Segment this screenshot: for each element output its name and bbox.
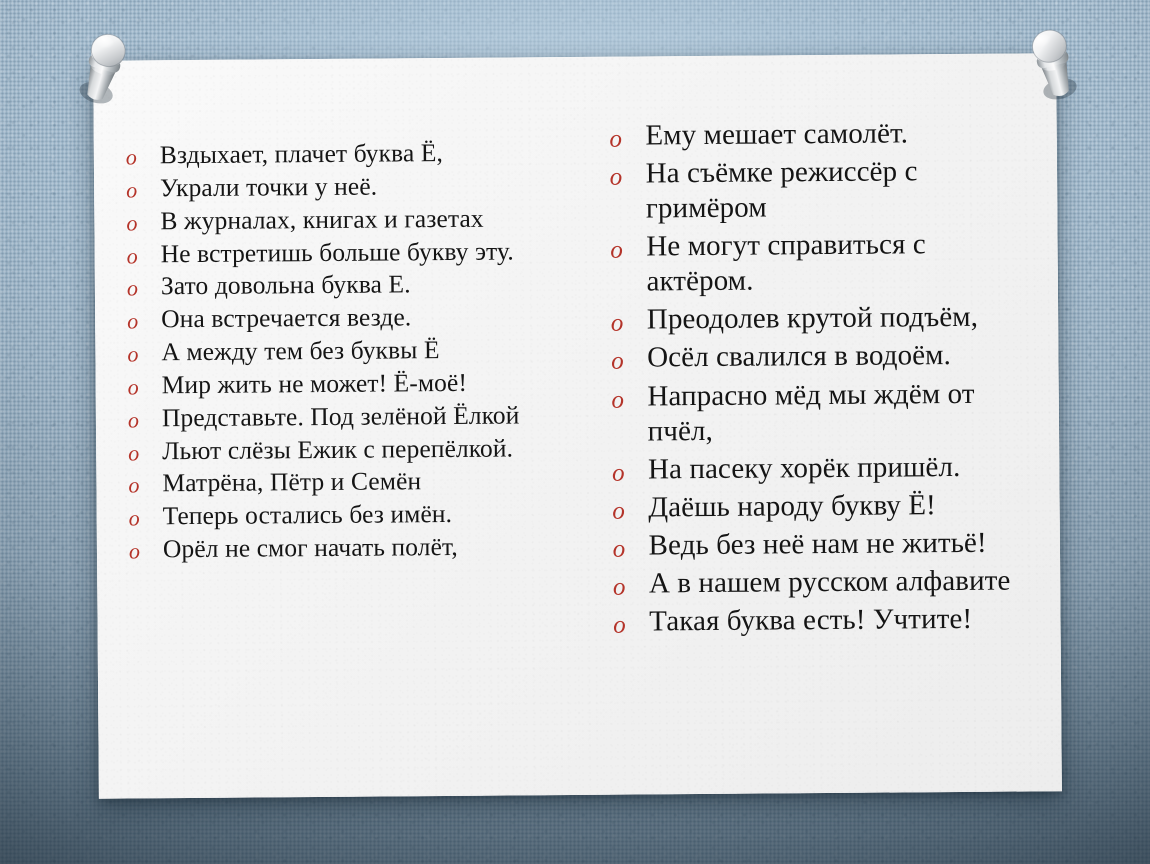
- bullet-icon: o: [613, 604, 649, 637]
- list-item: o Даёшь народу букву Ё!: [612, 487, 1042, 525]
- list-item-text: Представьте. Под зелёной Ёлкой: [162, 400, 594, 434]
- list-item-text: Не могут справиться с актёром.: [646, 227, 1040, 300]
- list-item-text: Осёл свалился в водоём.: [647, 338, 1041, 376]
- bullet-icon: o: [128, 403, 162, 431]
- list-item: o Представьте. Под зелёной Ёлкой: [128, 400, 594, 435]
- list-item: o В журналах, книгах и газетах: [126, 203, 592, 238]
- list-item-text: Льют слёзы Ежик с перепёлкой.: [162, 432, 594, 466]
- bullet-icon: o: [612, 452, 648, 485]
- list-item: o А между тем без буквы Ё: [127, 334, 593, 369]
- list-item: o Льют слёзы Ежик с перепёлкой.: [128, 432, 594, 467]
- list-item-text: Преодолев крутой подъём,: [647, 300, 1041, 338]
- bullet-icon: o: [128, 469, 162, 497]
- list-item-text: Зато довольна буква Е.: [161, 268, 593, 302]
- bullet-icon: o: [612, 528, 648, 561]
- list-item-text: Украли точки у неё.: [160, 170, 592, 204]
- list-item-text: Орёл не смог начать полёт,: [163, 531, 595, 565]
- list-item: o Вздыхает, плачет буква Ё,: [126, 137, 592, 172]
- list-item-text: Даёшь народу букву Ё!: [648, 487, 1042, 525]
- list-item: o Ему мешает самолёт.: [609, 115, 1039, 153]
- list-item: o Не встретишь больше букву эту.: [127, 235, 593, 270]
- list-item-text: В журналах, книгах и газетах: [160, 203, 592, 237]
- bullet-icon: o: [128, 370, 162, 398]
- list-item: o Она встречается везде.: [127, 301, 593, 336]
- bullet-icon: o: [127, 304, 161, 332]
- list-item: o Зато довольна буква Е.: [127, 268, 593, 303]
- list-item: o Орёл не смог начать полёт,: [129, 531, 595, 566]
- list-item-text: Такая буква есть! Учтите!: [649, 601, 1043, 639]
- list-item-text: Не встретишь больше букву эту.: [161, 235, 593, 269]
- list-item-text: Вздыхает, плачет буква Ё,: [160, 137, 592, 171]
- bullet-icon: o: [127, 337, 161, 365]
- list-item: o Осёл свалился в водоём.: [611, 338, 1041, 376]
- bullet-icon: o: [611, 303, 647, 336]
- bullet-icon: o: [127, 272, 161, 300]
- bullet-icon: o: [127, 239, 161, 267]
- list-item: o Ведь без неё нам не житьё!: [612, 525, 1042, 563]
- list-item-text: На пасеку хорёк пришёл.: [648, 449, 1042, 487]
- bullet-icon: o: [610, 157, 646, 190]
- bullet-icon: o: [611, 341, 647, 374]
- bullet-icon: o: [126, 140, 160, 168]
- list-item: o На пасеку хорёк пришёл.: [612, 449, 1042, 487]
- list-item-text: Теперь остались без имён.: [163, 498, 595, 532]
- list-item: o Теперь остались без имён.: [129, 498, 595, 533]
- list-item: o Матрёна, Пётр и Семён: [128, 465, 594, 500]
- list-item: o Преодолев крутой подъём,: [611, 300, 1041, 338]
- list-item-text: Ему мешает самолёт.: [645, 115, 1039, 153]
- bullet-icon: o: [612, 490, 648, 523]
- list-item: o Напрасно мёд мы ждём от пчёл,: [611, 376, 1041, 450]
- list-item-text: А между тем без буквы Ё: [161, 334, 593, 368]
- bullet-icon: o: [609, 118, 645, 151]
- list-item-text: Матрёна, Пётр и Семён: [162, 465, 594, 499]
- bullet-icon: o: [129, 502, 163, 530]
- list-item-text: А в нашем русском алфавите: [649, 563, 1043, 601]
- bullet-icon: o: [611, 379, 647, 412]
- right-column: o Ему мешает самолёт. o На съёмке режисс…: [591, 115, 1043, 774]
- content-columns: o Вздыхает, плачет буква Ё, o Украли точ…: [93, 53, 1062, 799]
- list-item: o Украли точки у неё.: [126, 170, 592, 205]
- bullet-icon: o: [129, 534, 163, 562]
- left-column: o Вздыхает, плачет буква Ё, o Украли точ…: [114, 119, 597, 779]
- list-item-text: Мир жить не может! Ё-моё!: [162, 367, 594, 401]
- list-item-text: Напрасно мёд мы ждём от пчёл,: [647, 376, 1041, 449]
- list-item: o А в нашем русском алфавите: [613, 563, 1043, 601]
- bullet-icon: o: [126, 206, 160, 234]
- slide-canvas: o Вздыхает, плачет буква Ё, o Украли точ…: [0, 0, 1150, 864]
- list-item-text: На съёмке режиссёр с гримёром: [646, 153, 1040, 226]
- list-item: o Такая буква есть! Учтите!: [613, 601, 1043, 639]
- bullet-icon: o: [613, 566, 649, 599]
- list-item: o Мир жить не может! Ё-моё!: [128, 367, 594, 402]
- list-item-text: Ведь без неё нам не житьё!: [648, 525, 1042, 563]
- bullet-icon: o: [610, 230, 646, 263]
- list-item: o На съёмке режиссёр с гримёром: [610, 153, 1040, 227]
- paper-card-surface: o Вздыхает, плачет буква Ё, o Украли точ…: [93, 53, 1062, 799]
- list-item: o Не могут справиться с актёром.: [610, 227, 1040, 301]
- bullet-icon: o: [126, 173, 160, 201]
- paper-card[interactable]: o Вздыхает, плачет буква Ё, o Украли точ…: [93, 53, 1062, 799]
- bullet-icon: o: [128, 436, 162, 464]
- list-item-text: Она встречается везде.: [161, 301, 593, 335]
